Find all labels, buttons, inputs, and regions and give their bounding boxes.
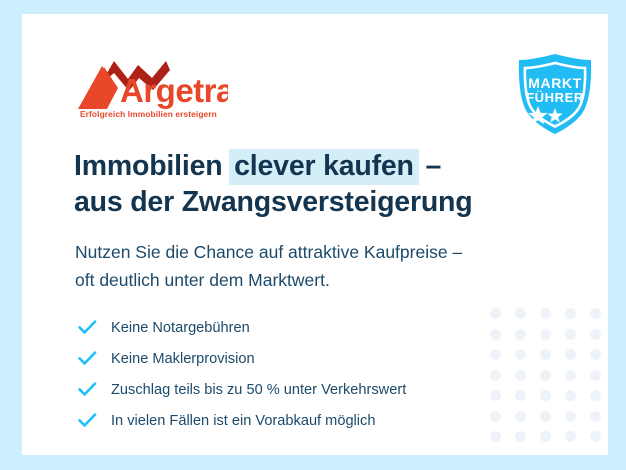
grid-dot — [565, 431, 576, 442]
page-title: Immobilien clever kaufen – aus der Zwang… — [74, 148, 574, 220]
badge-stars — [511, 106, 599, 124]
argetra-logo[interactable]: Argetra Erfolgreich Immobilien ersteiger… — [78, 57, 228, 127]
grid-dot — [590, 411, 601, 422]
grid-dot — [565, 329, 576, 340]
subheadline-line-2: oft deutlich unter dem Marktwert. — [75, 266, 575, 294]
grid-dot — [565, 390, 576, 401]
check-icon — [78, 380, 102, 400]
badge-line-2: FÜHRER — [511, 90, 599, 105]
headline-line-2: aus der Zwangsversteigerung — [74, 184, 574, 220]
check-icon — [78, 349, 102, 369]
headline-highlight: clever kaufen — [229, 149, 419, 185]
check-icon — [78, 411, 102, 431]
grid-dot — [590, 390, 601, 401]
logo-tagline: Erfolgreich Immobilien ersteigern — [80, 109, 217, 119]
list-item-label: Keine Maklerprovision — [111, 349, 255, 369]
benefits-list: Keine Notargebühren Keine Maklerprovisio… — [78, 312, 548, 436]
grid-dot — [565, 308, 576, 319]
promo-banner: Argetra Erfolgreich Immobilien ersteiger… — [0, 0, 626, 470]
list-item-label: In vielen Fällen ist ein Vorabkauf mögli… — [111, 411, 375, 431]
list-item: Zuschlag teils bis zu 50 % unter Verkehr… — [78, 374, 548, 405]
grid-dot — [565, 370, 576, 381]
content-card: Argetra Erfolgreich Immobilien ersteiger… — [22, 14, 608, 455]
check-icon — [78, 318, 102, 338]
badge-line-1: MARKT — [511, 75, 599, 91]
headline-line-1: Immobilien clever kaufen – — [74, 148, 574, 184]
headline-text-before: Immobilien — [74, 150, 230, 182]
list-item: Keine Notargebühren — [78, 312, 548, 343]
subheadline: Nutzen Sie die Chance auf attraktive Kau… — [75, 238, 575, 294]
grid-dot — [590, 308, 601, 319]
list-item: Keine Maklerprovision — [78, 343, 548, 374]
grid-dot — [590, 370, 601, 381]
three-stars-icon — [511, 106, 565, 124]
grid-dot — [565, 411, 576, 422]
list-item: In vielen Fällen ist ein Vorabkauf mögli… — [78, 405, 548, 436]
list-item-label: Zuschlag teils bis zu 50 % unter Verkehr… — [111, 380, 406, 400]
grid-dot — [590, 349, 601, 360]
list-item-label: Keine Notargebühren — [111, 318, 250, 338]
market-leader-badge: MARKT FÜHRER — [511, 52, 599, 136]
grid-dot — [590, 329, 601, 340]
svg-text:Argetra: Argetra — [120, 72, 228, 109]
roofline-a-icon: Argetra — [78, 57, 228, 109]
headline-text-after: – — [418, 150, 441, 182]
grid-dot — [590, 431, 601, 442]
subheadline-line-1: Nutzen Sie die Chance auf attraktive Kau… — [75, 238, 575, 266]
grid-dot — [565, 349, 576, 360]
